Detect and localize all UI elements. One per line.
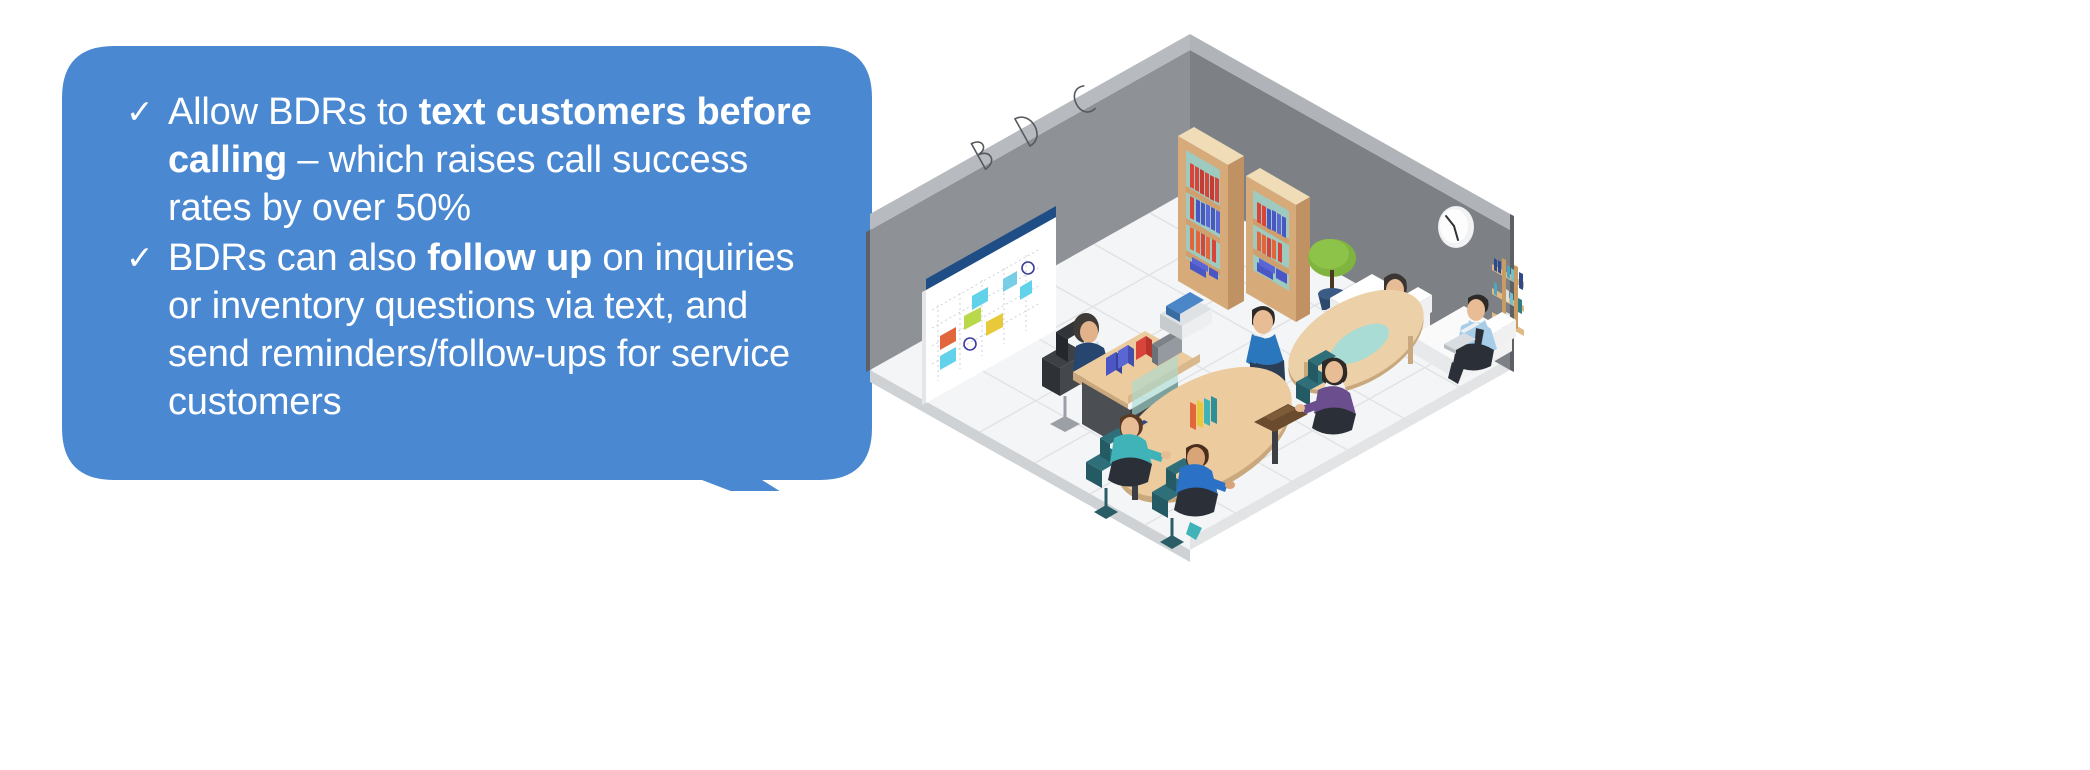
speech-bubble-content: ✓ Allow BDRs to text customers before ca… xyxy=(122,88,822,428)
isometric-office-illustration xyxy=(860,10,1620,570)
bullet-text-2: BDRs can also follow up on inquiries or … xyxy=(168,234,822,426)
bullet-text-1: Allow BDRs to text customers before call… xyxy=(168,88,822,232)
bookcase-tall-left xyxy=(1178,127,1244,310)
office-scene xyxy=(860,10,1620,570)
checkmark-icon: ✓ xyxy=(122,88,168,136)
bullet-item: ✓ BDRs can also follow up on inquiries o… xyxy=(122,234,822,426)
wall-clock xyxy=(1438,206,1474,248)
bullet-item: ✓ Allow BDRs to text customers before ca… xyxy=(122,88,822,232)
checkmark-icon: ✓ xyxy=(122,234,168,282)
speech-bubble: ✓ Allow BDRs to text customers before ca… xyxy=(62,46,872,491)
slide-canvas: ✓ Allow BDRs to text customers before ca… xyxy=(0,0,2090,770)
